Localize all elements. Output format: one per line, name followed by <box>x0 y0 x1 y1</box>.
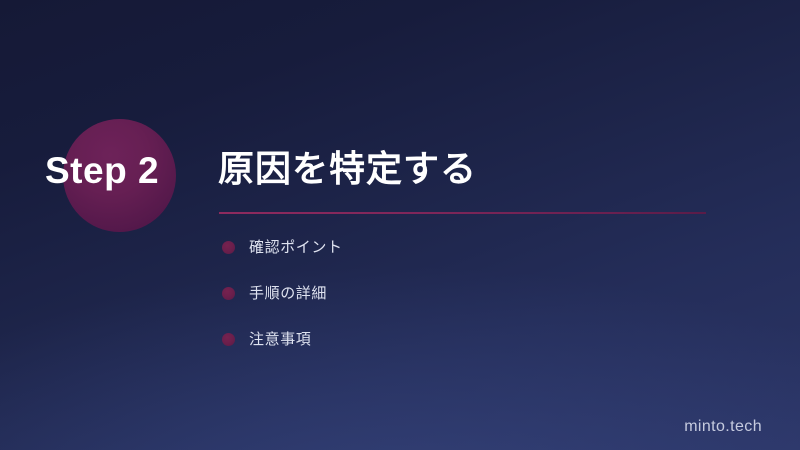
slide-canvas: Step 2 原因を特定する 確認ポイント 手順の詳細 注意事項 minto.t… <box>0 0 800 450</box>
step-label: Step 2 <box>45 152 159 189</box>
bullet-dot-icon <box>222 241 235 254</box>
title-divider <box>219 212 706 214</box>
page-title: 原因を特定する <box>218 148 477 189</box>
list-item-label: 確認ポイント <box>249 240 343 255</box>
list-item-label: 注意事項 <box>249 332 311 347</box>
list-item-label: 手順の詳細 <box>249 286 327 301</box>
bullet-dot-icon <box>222 287 235 300</box>
list-item: 注意事項 <box>222 330 343 349</box>
list-item: 手順の詳細 <box>222 284 343 303</box>
bullet-dot-icon <box>222 333 235 346</box>
bullet-list: 確認ポイント 手順の詳細 注意事項 <box>222 238 343 349</box>
list-item: 確認ポイント <box>222 238 343 257</box>
footer-brand: minto.tech <box>684 419 762 435</box>
